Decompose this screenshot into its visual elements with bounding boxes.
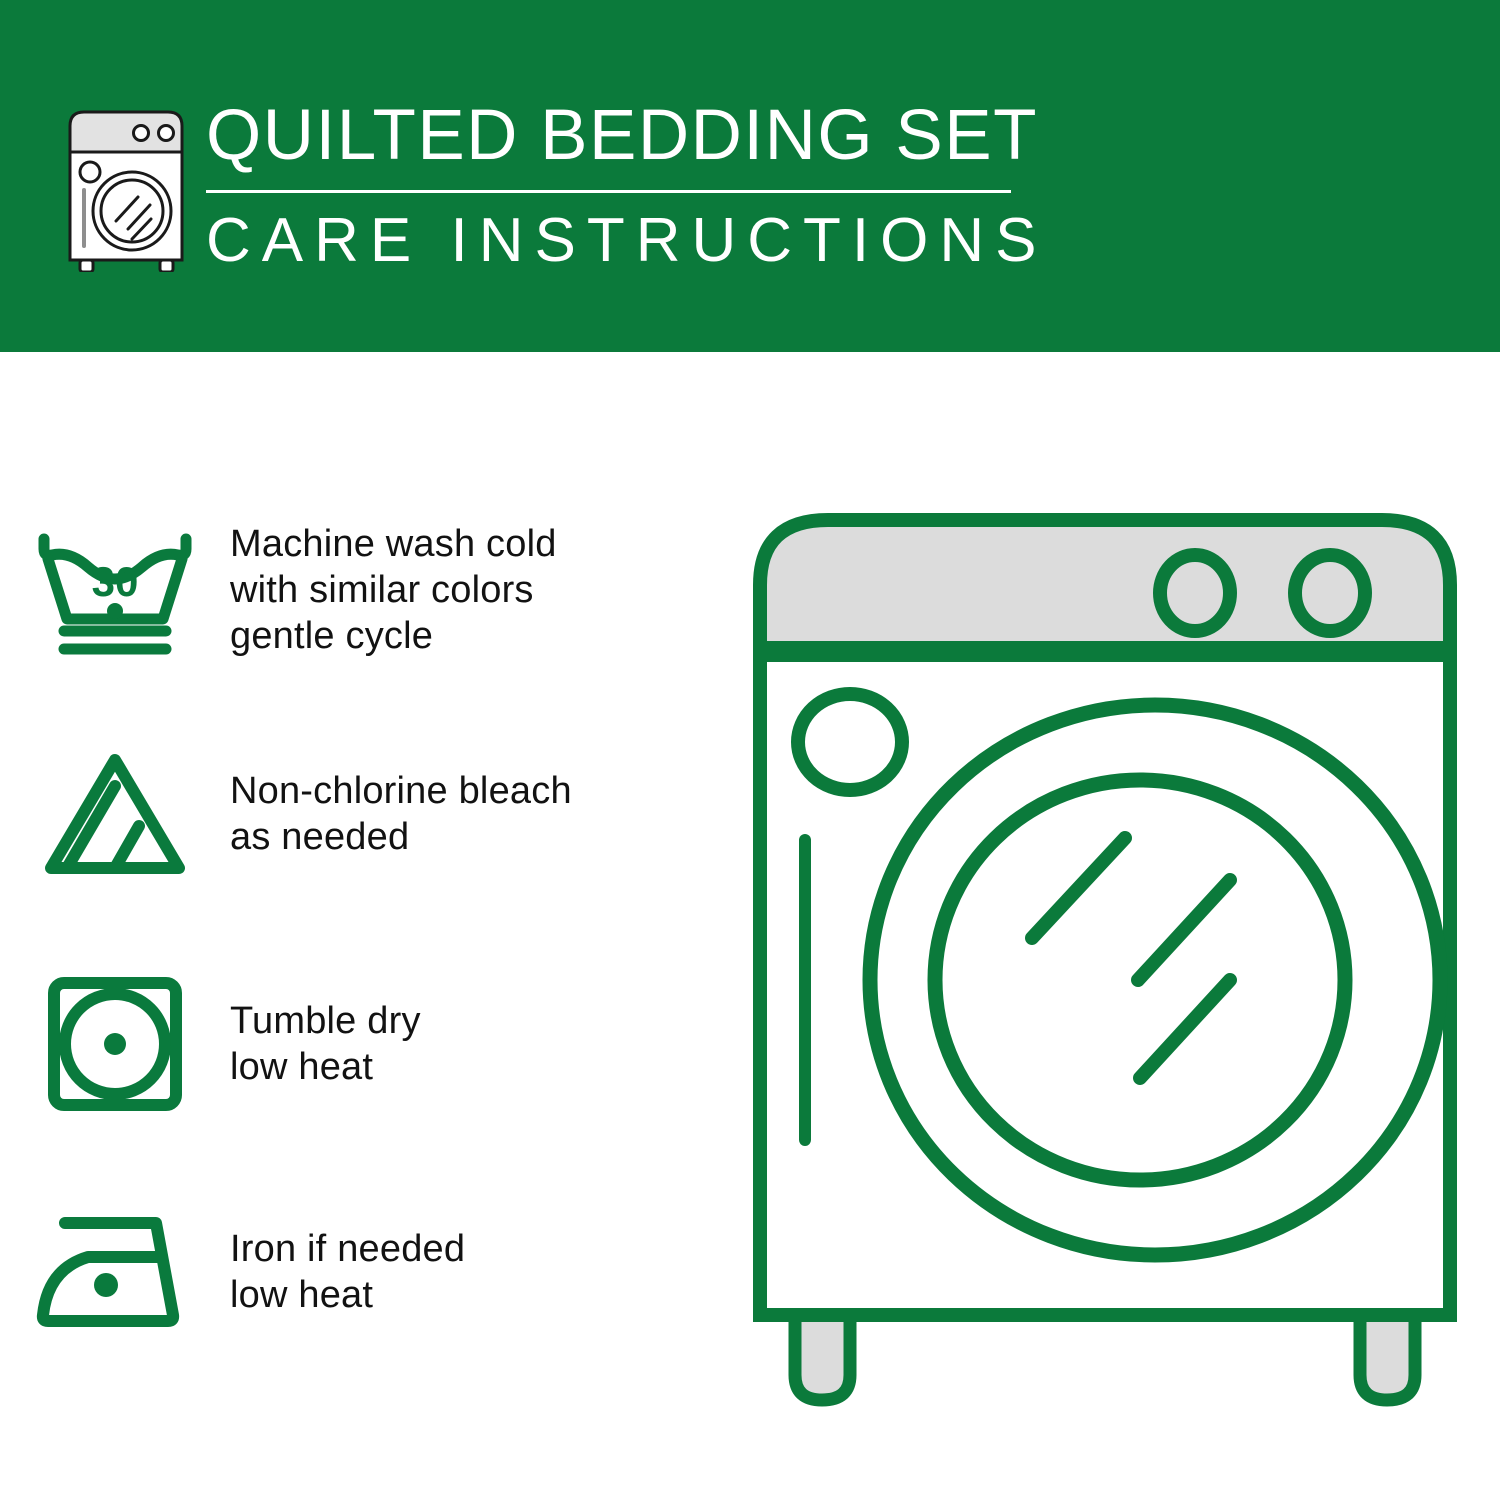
detergent-dispenser-circle <box>798 694 902 790</box>
care-instruction-list: 30 Machine wash cold with similar colors… <box>0 352 720 1500</box>
care-row-tumble-dry: Tumble dry low heat <box>0 954 720 1134</box>
care-label-line: low heat <box>230 1044 421 1090</box>
page-title: QUILTED BEDDING SET <box>206 96 1036 176</box>
title-divider <box>206 190 1011 193</box>
washing-machine-icon <box>62 104 197 272</box>
header-band: QUILTED BEDDING SET CARE INSTRUCTIONS <box>0 0 1500 352</box>
care-label-line: as needed <box>230 814 572 860</box>
page-subtitle: CARE INSTRUCTIONS <box>206 205 1036 277</box>
care-label-wash: Machine wash cold with similar colors ge… <box>230 521 557 659</box>
care-label-tumble-dry: Tumble dry low heat <box>230 998 421 1090</box>
care-label-iron: Iron if needed low heat <box>230 1226 465 1318</box>
care-label-line: Machine wash cold <box>230 521 557 567</box>
care-label-line: with similar colors <box>230 567 557 613</box>
knob-left <box>1160 555 1230 631</box>
care-instructions-page: QUILTED BEDDING SET CARE INSTRUCTIONS 30 <box>0 0 1500 1500</box>
front-load-washing-machine-illustration <box>740 480 1470 1440</box>
iron-low-heat-icon <box>0 1182 230 1362</box>
tumble-dry-low-heat-icon <box>0 954 230 1134</box>
care-row-wash: 30 Machine wash cold with similar colors… <box>0 500 720 680</box>
care-label-line: low heat <box>230 1272 465 1318</box>
non-chlorine-bleach-triangle-icon <box>0 724 230 904</box>
leg-right <box>1360 1310 1415 1400</box>
care-label-line: Iron if needed <box>230 1226 465 1272</box>
leg-left <box>795 1310 850 1400</box>
wash-dot <box>107 603 123 619</box>
care-label-line: gentle cycle <box>230 613 557 659</box>
wash-temperature-value: 30 <box>92 558 139 605</box>
care-label-line: Non-chlorine bleach <box>230 768 572 814</box>
knob-right <box>1295 555 1365 631</box>
iron-heat-dot <box>94 1273 118 1297</box>
care-row-bleach: Non-chlorine bleach as needed <box>0 724 720 904</box>
tumble-dry-heat-dot <box>104 1033 126 1055</box>
header-text-block: QUILTED BEDDING SET CARE INSTRUCTIONS <box>206 96 1036 277</box>
care-label-line: Tumble dry <box>230 998 421 1044</box>
wash-tub-30-gentle-icon: 30 <box>0 500 230 680</box>
care-row-iron: Iron if needed low heat <box>0 1182 720 1362</box>
care-label-bleach: Non-chlorine bleach as needed <box>230 768 572 860</box>
